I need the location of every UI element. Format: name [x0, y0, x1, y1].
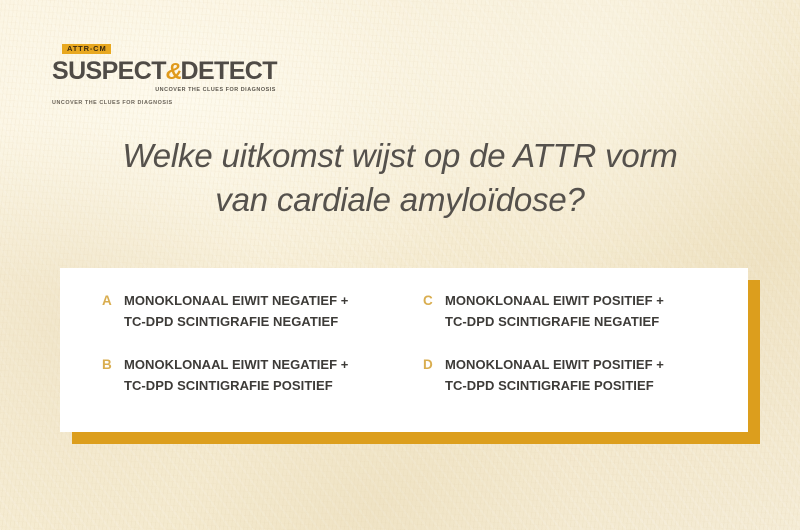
question-line-1: Welke uitkomst wijst op de ATTR vorm — [60, 134, 740, 178]
attr-cm-badge: ATTR-CM — [62, 44, 111, 55]
answer-text-d: MONOKLONAAL EIWIT POSITIEF + TC-DPD SCIN… — [445, 354, 664, 396]
answer-text-c: MONOKLONAAL EIWIT POSITIEF + TC-DPD SCIN… — [445, 290, 664, 332]
answer-letter-b: B — [102, 354, 114, 375]
answer-letter-c: C — [423, 290, 435, 311]
slide-canvas: ATTR-CM SUSPECT&DETECT UNCOVER THE CLUES… — [0, 0, 800, 530]
answers-card: A MONOKLONAAL EIWIT NEGATIEF + TC-DPD SC… — [60, 268, 748, 432]
answer-option-c[interactable]: C MONOKLONAAL EIWIT POSITIEF + TC-DPD SC… — [423, 290, 730, 348]
answer-b-line-1: MONOKLONAAL EIWIT NEGATIEF + — [124, 357, 348, 372]
logo-word-suspect: SUSPECT — [52, 57, 166, 85]
brand-logo: ATTR-CM SUSPECT&DETECT UNCOVER THE CLUES… — [52, 38, 277, 93]
answer-option-a[interactable]: A MONOKLONAAL EIWIT NEGATIEF + TC-DPD SC… — [102, 290, 409, 348]
answer-letter-d: D — [423, 354, 435, 375]
answer-d-line-2: TC-DPD SCINTIGRAFIE POSITIEF — [445, 375, 664, 396]
answer-text-b: MONOKLONAAL EIWIT NEGATIEF + TC-DPD SCIN… — [124, 354, 348, 396]
answer-a-line-1: MONOKLONAAL EIWIT NEGATIEF + — [124, 293, 348, 308]
question-line-2: van cardiale amyloïdose? — [60, 178, 740, 222]
logo-word-detect: DETECT — [181, 57, 277, 85]
answer-b-line-2: TC-DPD SCINTIGRAFIE POSITIEF — [124, 375, 348, 396]
answer-d-line-1: MONOKLONAAL EIWIT POSITIEF + — [445, 357, 664, 372]
answer-option-b[interactable]: B MONOKLONAAL EIWIT NEGATIEF + TC-DPD SC… — [102, 354, 409, 412]
answer-c-line-1: MONOKLONAAL EIWIT POSITIEF + — [445, 293, 664, 308]
answer-text-a: MONOKLONAAL EIWIT NEGATIEF + TC-DPD SCIN… — [124, 290, 348, 332]
logo-tagline-secondary: UNCOVER THE CLUES FOR DIAGNOSIS — [52, 100, 173, 106]
logo-tagline: UNCOVER THE CLUES FOR DIAGNOSIS — [52, 87, 277, 93]
answer-a-line-2: TC-DPD SCINTIGRAFIE NEGATIEF — [124, 311, 348, 332]
answer-c-line-2: TC-DPD SCINTIGRAFIE NEGATIEF — [445, 311, 664, 332]
logo-wordmark: SUSPECT&DETECT — [52, 59, 277, 84]
answer-letter-a: A — [102, 290, 114, 311]
answers-card-container: A MONOKLONAAL EIWIT NEGATIEF + TC-DPD SC… — [60, 268, 748, 432]
page-title: Welke uitkomst wijst op de ATTR vorm van… — [60, 134, 740, 222]
answer-option-d[interactable]: D MONOKLONAAL EIWIT POSITIEF + TC-DPD SC… — [423, 354, 730, 412]
logo-ampersand-icon: & — [166, 58, 181, 84]
